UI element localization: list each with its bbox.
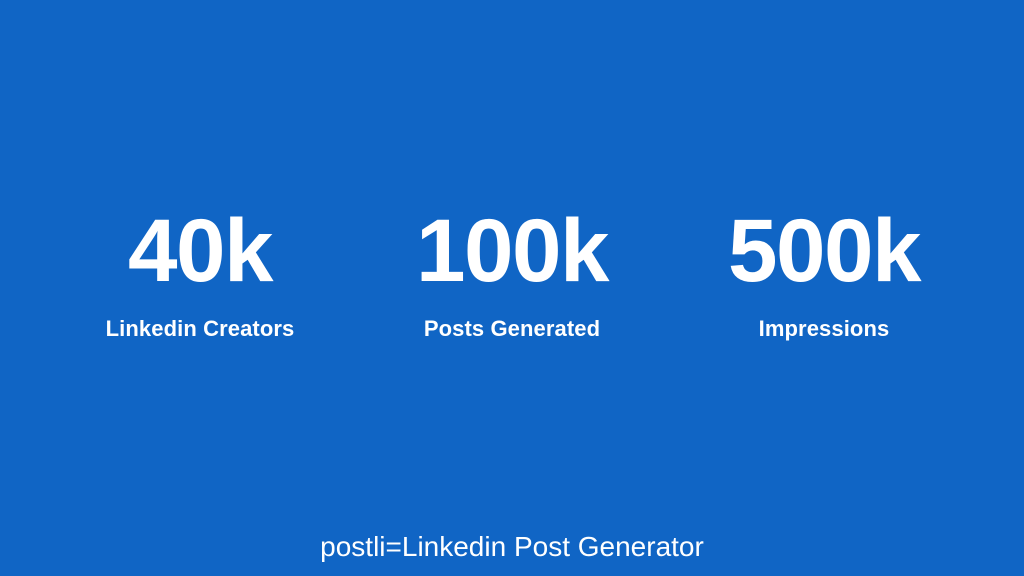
footer-caption: postli=Linkedin Post Generator bbox=[0, 530, 1024, 564]
stat-value-impressions: 500k bbox=[728, 206, 920, 295]
stat-label-posts-generated: Posts Generated bbox=[424, 317, 600, 341]
stat-label-linkedin-creators: Linkedin Creators bbox=[106, 317, 295, 341]
stat-label-impressions: Impressions bbox=[759, 317, 890, 341]
stat-value-linkedin-creators: 40k bbox=[128, 206, 272, 295]
stat-block-posts-generated: 100k Posts Generated bbox=[356, 206, 668, 341]
stat-block-linkedin-creators: 40k Linkedin Creators bbox=[44, 206, 356, 341]
stat-value-posts-generated: 100k bbox=[416, 206, 608, 295]
stats-slide: 40k Linkedin Creators 100k Posts Generat… bbox=[0, 0, 1024, 576]
stats-row: 40k Linkedin Creators 100k Posts Generat… bbox=[0, 206, 1024, 341]
stat-block-impressions: 500k Impressions bbox=[668, 206, 980, 341]
